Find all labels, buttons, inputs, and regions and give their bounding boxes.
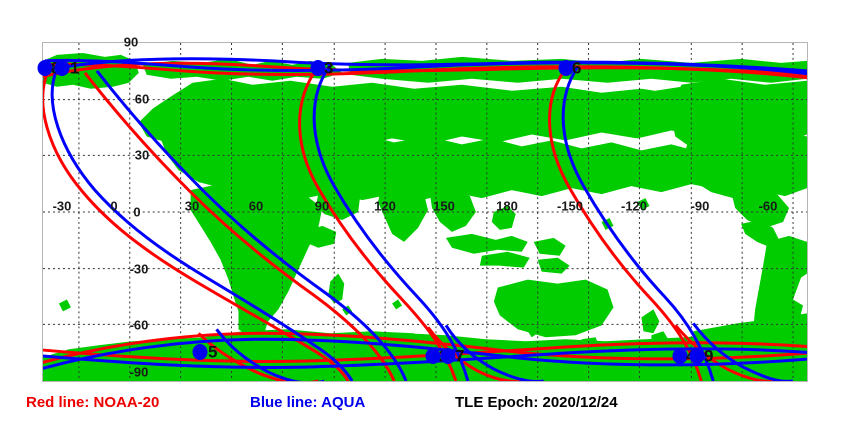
lon-tick-180: 180 — [496, 200, 518, 213]
lon-tick-120: 120 — [374, 200, 396, 213]
lon-tick-m30: -30 — [53, 200, 72, 213]
legend-blue-line: Blue line: AQUA — [250, 395, 365, 410]
lat-tick-0: 0 — [133, 206, 140, 219]
lon-tick-150: 150 — [433, 200, 455, 213]
lon-tick-m60: -60 — [759, 200, 778, 213]
position-marker-label-3: 3 — [324, 60, 333, 77]
lon-tick-m90: -90 — [691, 200, 710, 213]
lon-tick-0: 0 — [110, 200, 117, 213]
lat-tick-90: 90 — [124, 36, 138, 49]
position-marker-5[interactable] — [193, 344, 208, 360]
position-marker-label-7: 7 — [455, 348, 464, 365]
lon-tick-90: 90 — [315, 200, 329, 213]
position-marker-1[interactable] — [55, 60, 70, 76]
position-marker-label-6: 6 — [572, 60, 581, 77]
lat-tick-60: 60 — [135, 93, 149, 106]
legend-bar: Red line: NOAA-20 Blue line: AQUA TLE Ep… — [0, 390, 850, 420]
lat-tick-m90: -90 — [130, 366, 149, 379]
position-marker-label-5: 5 — [208, 344, 217, 361]
legend-red-line: Red line: NOAA-20 — [26, 395, 159, 410]
lon-tick-30: 30 — [185, 200, 199, 213]
position-marker-7[interactable] — [441, 348, 456, 364]
lon-tick-m120: -120 — [621, 200, 647, 213]
satellite-ground-track-map: 90 60 30 0 -30 -60 -90 -30 0 30 60 90 12… — [0, 0, 850, 425]
lon-tick-m150: -150 — [557, 200, 583, 213]
lat-tick-m30: -30 — [130, 263, 149, 276]
position-marker-label-9: 9 — [704, 348, 713, 365]
position-marker-label-1: 1 — [70, 60, 79, 77]
lat-tick-m60: -60 — [130, 319, 149, 332]
lon-tick-60: 60 — [249, 200, 263, 213]
lat-tick-30: 30 — [135, 149, 149, 162]
legend-tle-epoch: TLE Epoch: 2020/12/24 — [455, 395, 618, 410]
position-marker-9[interactable] — [690, 348, 705, 364]
